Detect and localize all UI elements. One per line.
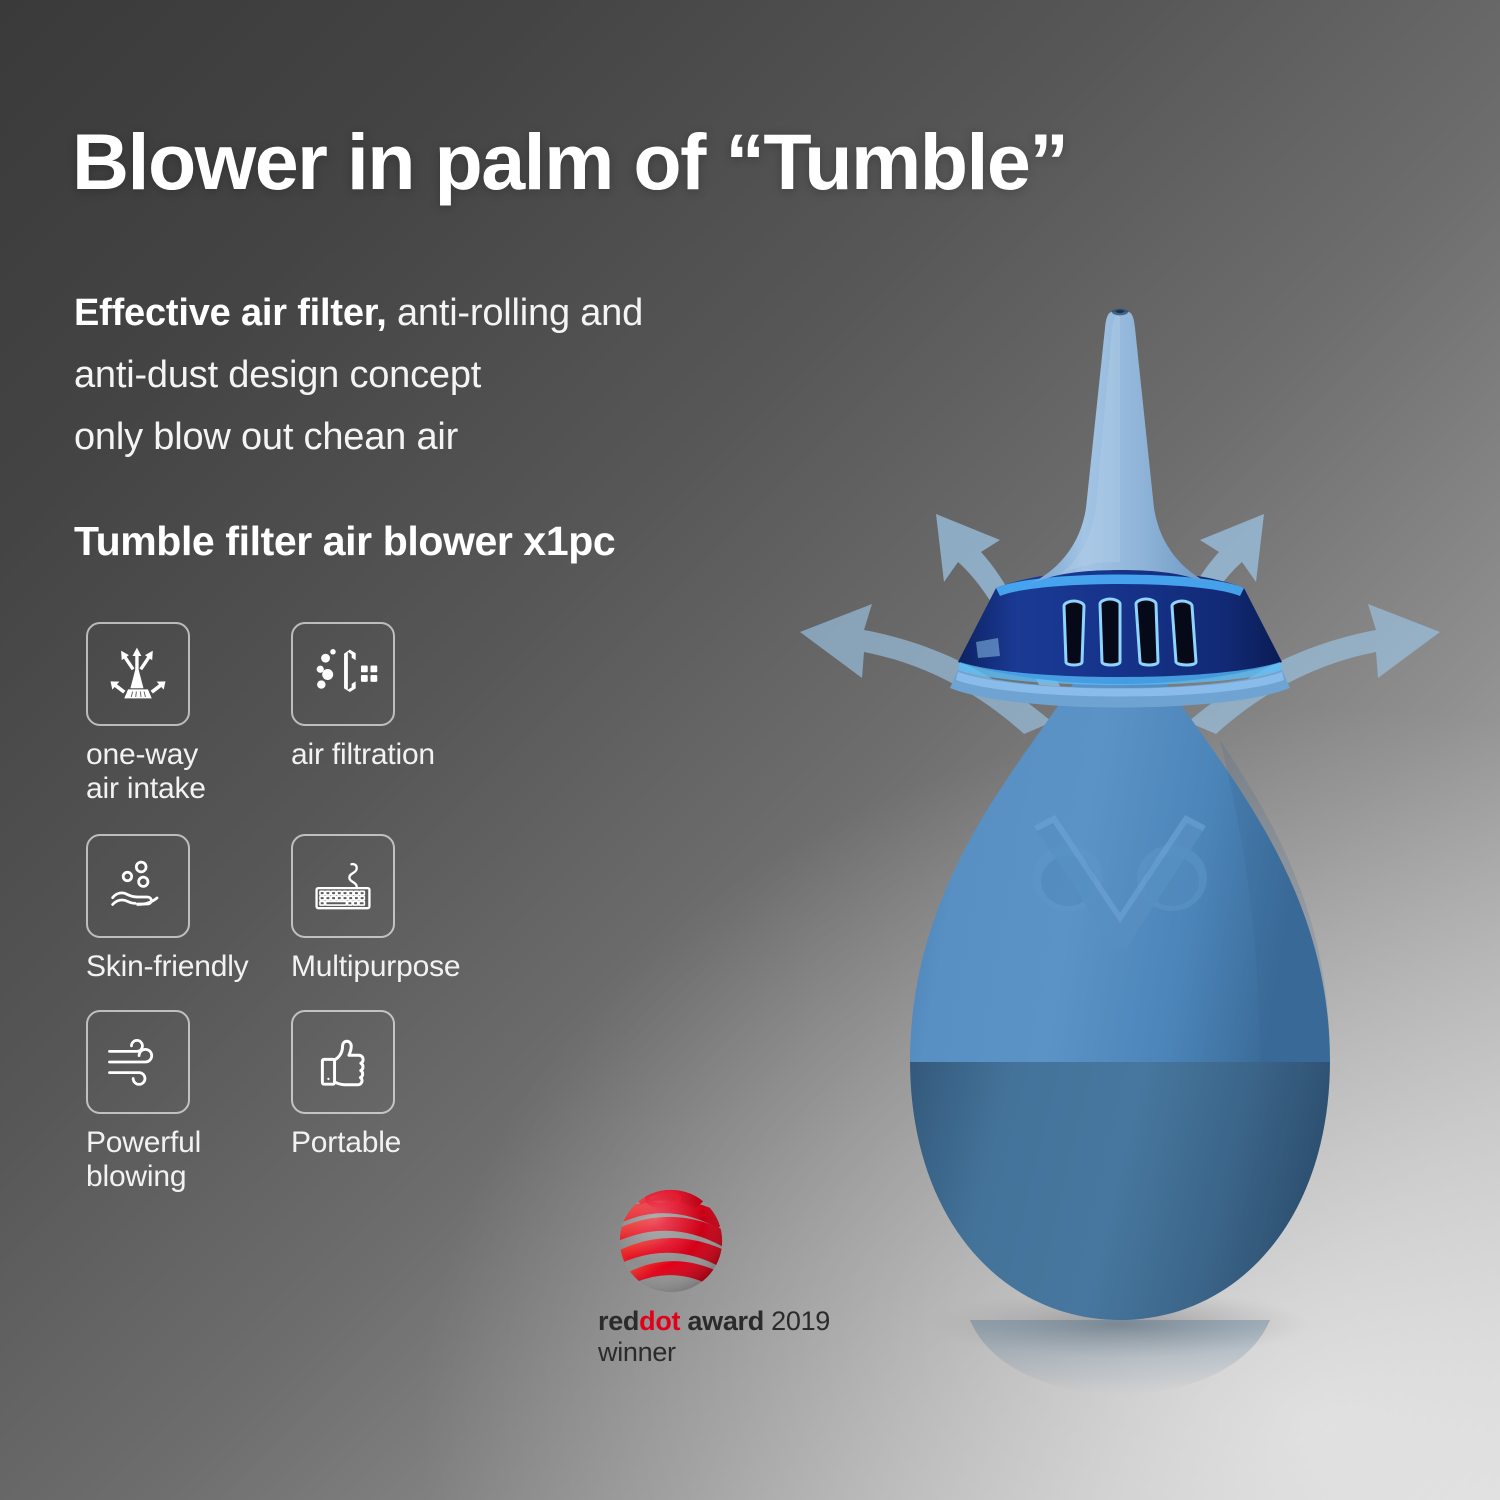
- product-reflection: [970, 1320, 1270, 1394]
- subheadline-line2: anti-dust design concept: [74, 354, 481, 396]
- feature-grid: one-way air intake: [86, 622, 506, 1210]
- feature-label: Powerful blowing: [86, 1126, 201, 1194]
- feature-label: Skin-friendly: [86, 950, 248, 984]
- reddot-award-word: award: [680, 1306, 771, 1336]
- skin-friendly-hand-icon: [86, 834, 190, 938]
- feature-one-way-air-intake: one-way air intake: [86, 622, 206, 806]
- feature-label: air filtration: [291, 738, 435, 772]
- feature-row-1: one-way air intake: [86, 622, 506, 834]
- product-marketing-image: Blower in palm of “Tumble” Effective air…: [0, 0, 1500, 1500]
- feature-row-3: Powerful blowing Portable: [86, 1010, 506, 1210]
- reddot-brand-red: red: [598, 1306, 639, 1336]
- product-sku-line: Tumble filter air blower x1pc: [74, 518, 615, 565]
- subheadline-line1-rest: anti-rolling and: [387, 292, 643, 334]
- tumble-air-blower-product-image: [790, 270, 1450, 1420]
- feature-row-2: Skin-friendly: [86, 834, 506, 1010]
- reddot-sphere-icon: [612, 1182, 730, 1300]
- feature-skin-friendly: Skin-friendly: [86, 834, 248, 984]
- feature-label: Multipurpose: [291, 950, 460, 984]
- feature-air-filtration: air filtration: [291, 622, 435, 772]
- keyboard-icon: [291, 834, 395, 938]
- feature-multipurpose: Multipurpose: [291, 834, 460, 984]
- feature-portable: Portable: [291, 1010, 401, 1160]
- feature-label: one-way air intake: [86, 738, 206, 806]
- one-way-air-intake-icon: [86, 622, 190, 726]
- air-filtration-icon: [291, 622, 395, 726]
- subheadline-bold-lead: Effective air filter,: [74, 292, 387, 334]
- thumbs-up-icon: [291, 1010, 395, 1114]
- page-title: Blower in palm of “Tumble”: [72, 122, 1067, 201]
- feature-powerful-blowing: Powerful blowing: [86, 1010, 201, 1194]
- feature-label: Portable: [291, 1126, 401, 1160]
- reddot-brand-dot: dot: [639, 1306, 680, 1336]
- wind-lines-icon: [86, 1010, 190, 1114]
- subheadline-line3: only blow out chean air: [74, 416, 458, 458]
- product-base: [910, 1060, 1330, 1320]
